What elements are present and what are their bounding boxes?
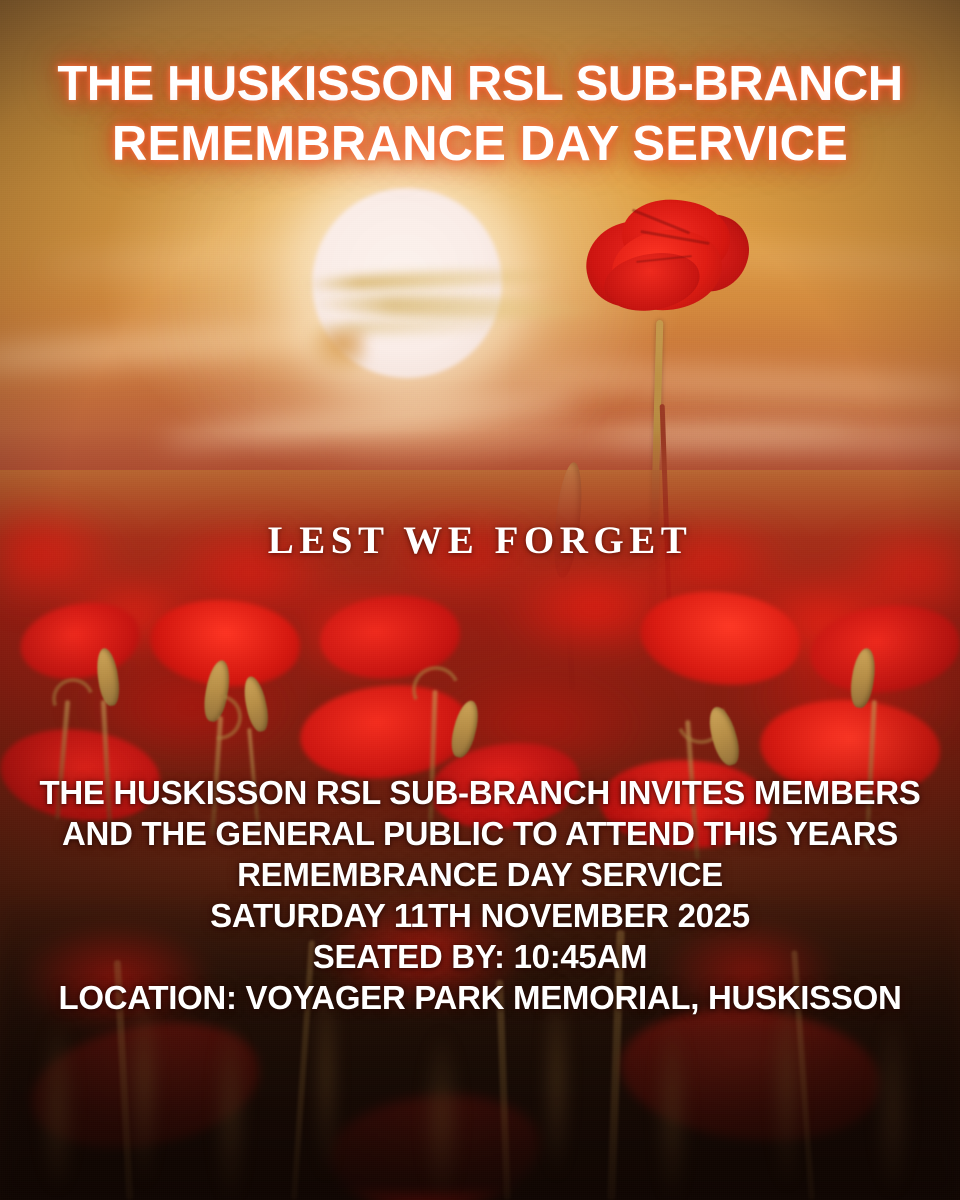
detail-line-date: SATURDAY 11TH NOVEMBER 2025 [0, 895, 960, 936]
poster-canvas: THE HUSKISSON RSL SUB-BRANCH REMEMBRANCE… [0, 0, 960, 1200]
detail-line-location: LOCATION: VOYAGER PARK MEMORIAL, HUSKISS… [0, 977, 960, 1018]
title-line-organisation: THE HUSKISSON RSL SUB-BRANCH [0, 54, 960, 114]
text-layer: THE HUSKISSON RSL SUB-BRANCH REMEMBRANCE… [0, 0, 960, 1200]
poster-title: THE HUSKISSON RSL SUB-BRANCH REMEMBRANCE… [0, 54, 960, 174]
detail-line-invite-2: AND THE GENERAL PUBLIC TO ATTEND THIS YE… [0, 813, 960, 854]
title-line-event: REMEMBRANCE DAY SERVICE [0, 114, 960, 174]
detail-line-invite-1: THE HUSKISSON RSL SUB-BRANCH INVITES MEM… [0, 772, 960, 813]
event-details: THE HUSKISSON RSL SUB-BRANCH INVITES MEM… [0, 772, 960, 1018]
detail-line-event: REMEMBRANCE DAY SERVICE [0, 854, 960, 895]
detail-line-seated-by: SEATED BY: 10:45AM [0, 936, 960, 977]
lest-we-forget-motto: LEST WE FORGET [0, 518, 960, 563]
